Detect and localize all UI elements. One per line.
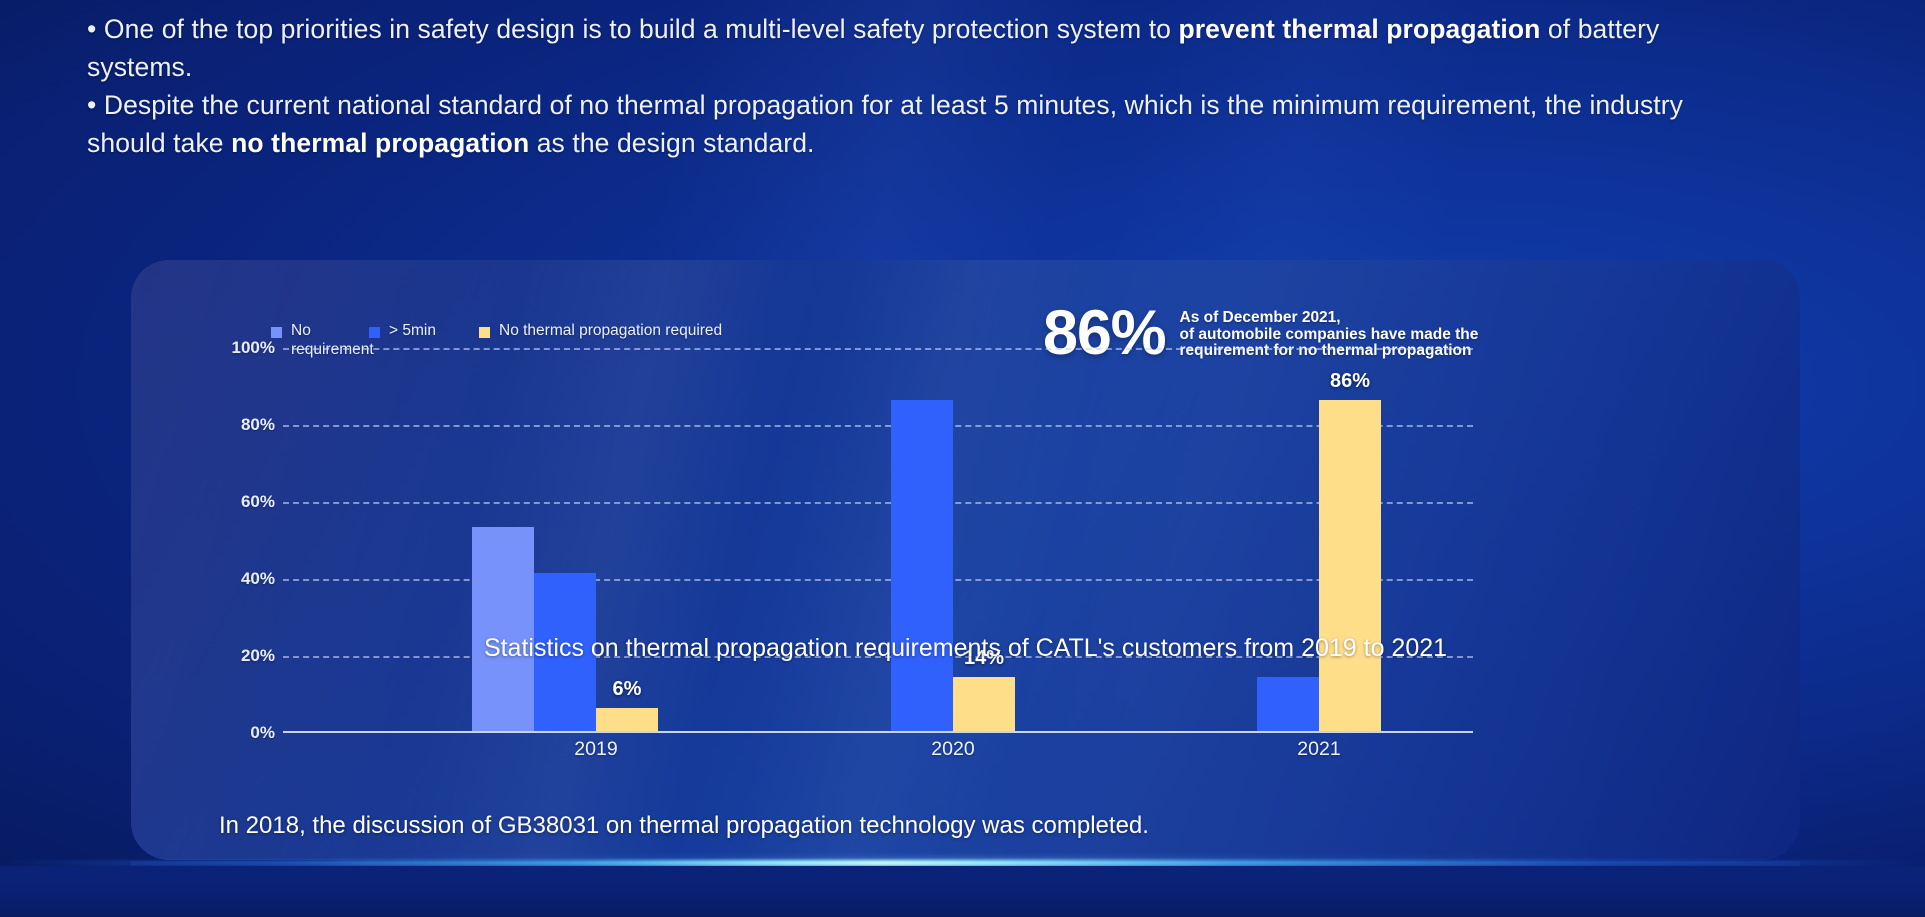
legend-item-3[interactable]: No thermal propagation required — [479, 322, 722, 341]
bullet-text: One of the top priorities in safety desi… — [96, 14, 1178, 44]
bar-group-container: 6%14%86% — [283, 348, 1473, 731]
bar[interactable]: 14% — [953, 677, 1015, 731]
bar[interactable] — [472, 527, 534, 731]
y-axis-tick-label: 100% — [232, 338, 275, 358]
bar-chart-plot: 0%20%40%60%80%100% 6%14%86% 201920202021 — [283, 348, 1473, 733]
y-axis-tick-label: 0% — [250, 723, 275, 743]
legend-swatch-icon — [479, 327, 490, 338]
bullet-2: • Despite the current national standard … — [87, 86, 1707, 162]
x-axis-category-label: 2019 — [574, 738, 617, 761]
chart-title: Statistics on thermal propagation requir… — [131, 632, 1800, 664]
bar[interactable] — [1257, 677, 1319, 731]
bullet-1: • One of the top priorities in safety de… — [87, 10, 1707, 86]
y-axis-tick-label: 40% — [241, 569, 275, 589]
y-axis-tick-label: 60% — [241, 492, 275, 512]
callout-line-2: of automobile companies have made the — [1180, 327, 1479, 344]
legend-swatch-icon — [271, 327, 282, 338]
bar-value-label: 6% — [613, 678, 642, 701]
x-axis-line — [283, 731, 1473, 733]
y-axis-labels: 0%20%40%60%80%100% — [211, 348, 275, 733]
legend-swatch-icon — [369, 327, 380, 338]
bullet-emphasis: no thermal propagation — [231, 128, 529, 158]
legend-label: > 5min — [389, 322, 436, 341]
x-axis-labels: 201920202021 — [283, 738, 1473, 768]
y-axis-tick-label: 80% — [241, 415, 275, 435]
bar[interactable]: 86% — [1319, 400, 1381, 731]
bullet-emphasis: prevent thermal propagation — [1178, 14, 1540, 44]
chart-card: No requirement> 5minNo thermal propagati… — [131, 260, 1800, 860]
bullet-text: as the design standard. — [529, 128, 814, 158]
x-axis-category-label: 2021 — [1297, 738, 1340, 761]
bullet-marker: • — [87, 90, 96, 120]
bullet-marker: • — [87, 14, 96, 44]
body-copy: • One of the top priorities in safety de… — [87, 10, 1707, 162]
legend-label: No thermal propagation required — [499, 322, 722, 341]
callout-line-1: As of December 2021, — [1180, 310, 1479, 327]
footnote-text: In 2018, the discussion of GB38031 on th… — [219, 810, 1149, 842]
bar[interactable]: 6% — [596, 708, 658, 731]
bar[interactable] — [891, 400, 953, 731]
x-axis-category-label: 2020 — [931, 738, 974, 761]
bar-value-label: 86% — [1330, 370, 1370, 393]
bottom-band — [0, 866, 1925, 917]
legend-item-2[interactable]: > 5min — [369, 322, 479, 341]
